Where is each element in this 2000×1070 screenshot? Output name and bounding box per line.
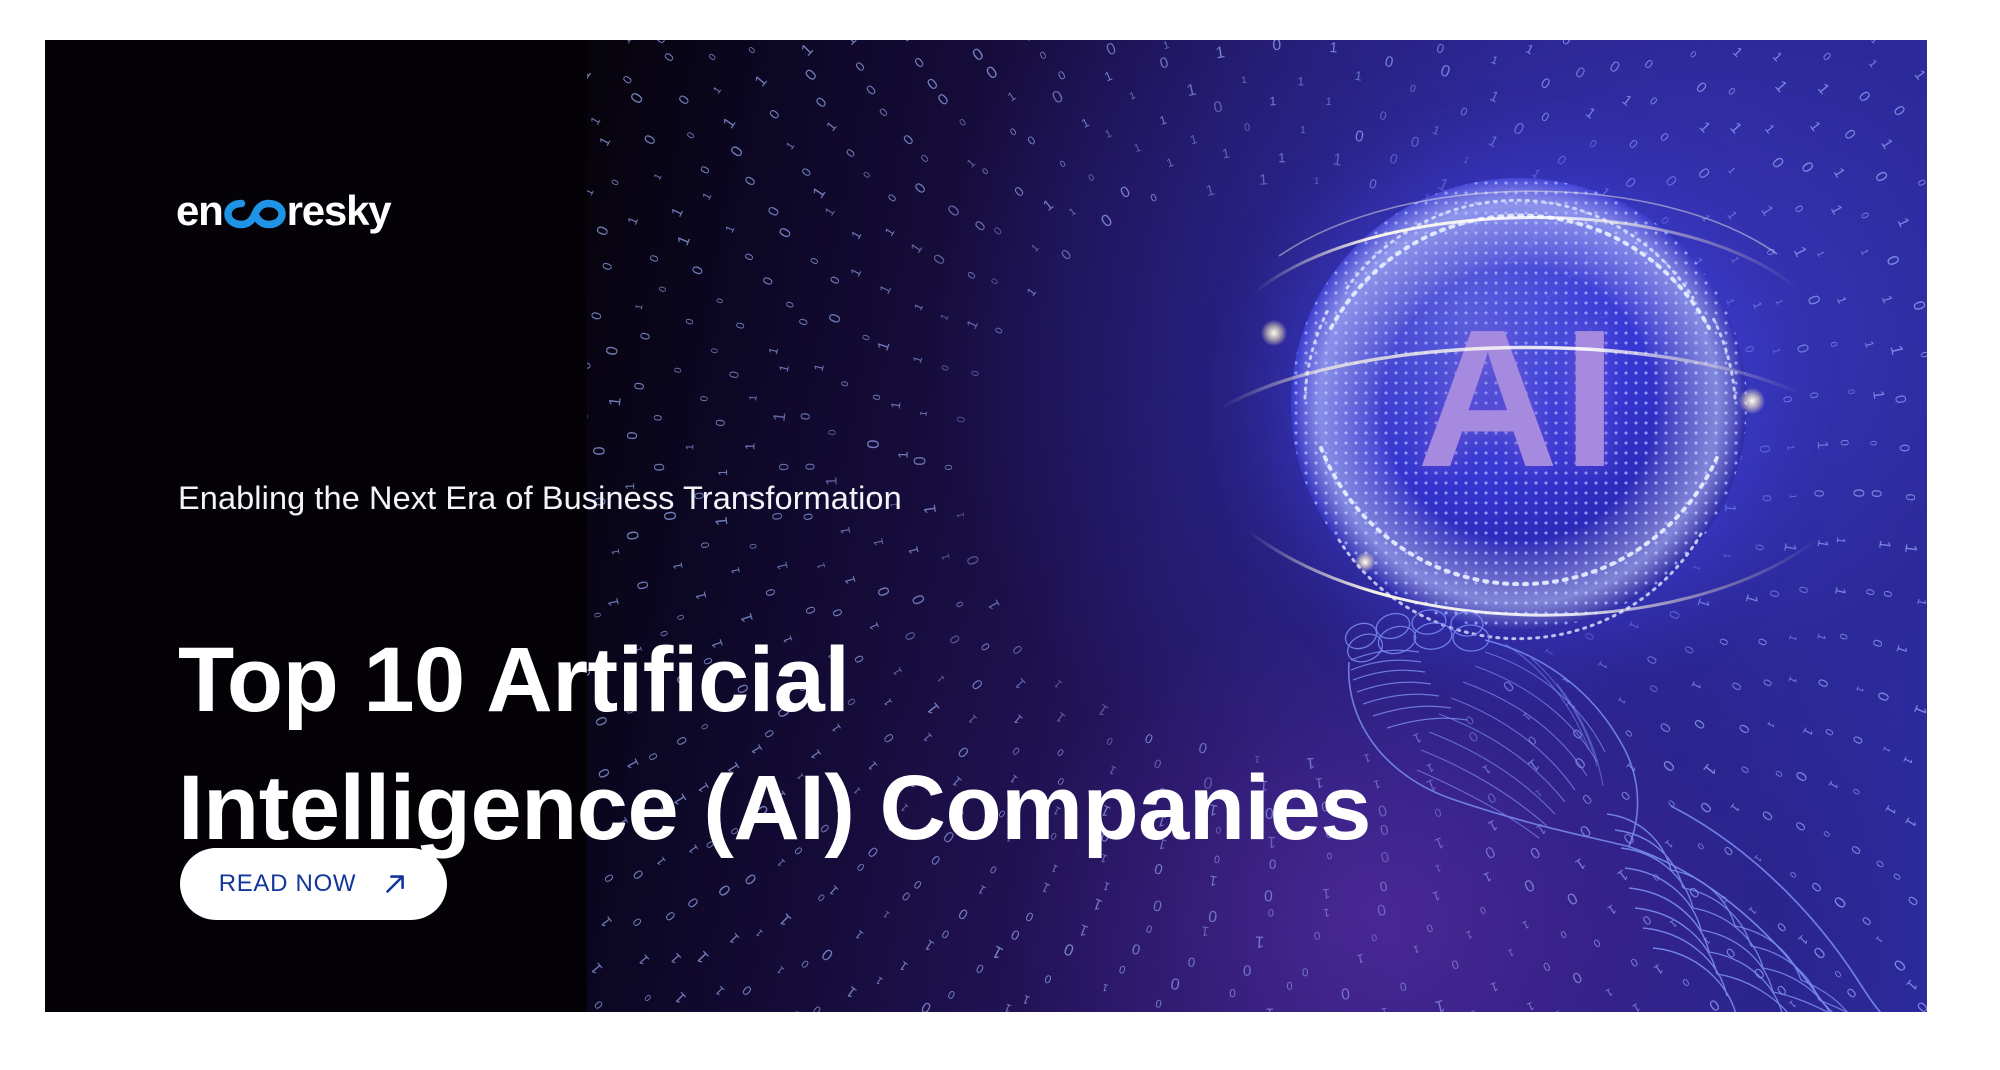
read-now-label: READ NOW xyxy=(219,870,357,898)
hero-banner: 1100111100110101000010001110110110000101… xyxy=(45,40,1927,1012)
brand-text-after: resky xyxy=(287,187,391,235)
headline-line-1: Top 10 Artificial xyxy=(178,616,1828,744)
arrow-up-right-icon xyxy=(382,871,408,897)
hero-eyebrow: Enabling the Next Era of Business Transf… xyxy=(178,480,902,517)
infinity-icon xyxy=(224,197,286,231)
read-now-button[interactable]: READ NOW xyxy=(180,848,447,920)
page-root: 1100111100110101000010001110110110000101… xyxy=(0,0,2000,1070)
brand-text-before: en xyxy=(176,187,223,235)
brand-logo[interactable]: en resky xyxy=(176,188,390,234)
page-title: Top 10 Artificial Intelligence (AI) Comp… xyxy=(178,616,1828,872)
